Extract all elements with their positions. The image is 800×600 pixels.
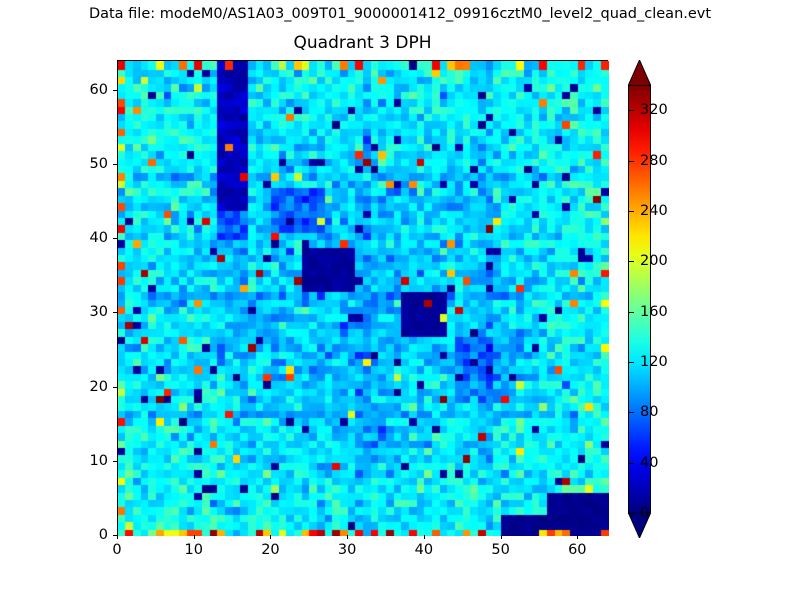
colorbar-tick-label: 80 <box>640 404 658 420</box>
x-tick-mark <box>424 535 425 539</box>
y-tick-label: 30 <box>0 304 108 320</box>
figure-canvas: Data file: modeM0/AS1A03_009T01_90000014… <box>0 0 800 600</box>
colorbar-tick-mark <box>628 110 634 111</box>
colorbar-tick-label: 280 <box>640 153 668 169</box>
colorbar-tick-mark <box>628 362 634 363</box>
x-tick-label: 50 <box>491 542 509 558</box>
x-tick-label: 20 <box>261 542 279 558</box>
x-tick-label: 10 <box>184 542 202 558</box>
y-tick-mark <box>113 90 117 91</box>
colorbar-tick-label: 0 <box>640 505 649 521</box>
y-tick-label: 50 <box>0 156 108 172</box>
colorbar-tick-mark <box>628 161 634 162</box>
y-tick-label: 10 <box>0 453 108 469</box>
y-tick-label: 20 <box>0 379 108 395</box>
x-tick-label: 60 <box>568 542 586 558</box>
colorbar-tick-label: 240 <box>640 203 668 219</box>
y-tick-mark <box>113 238 117 239</box>
x-tick-mark <box>501 535 502 539</box>
x-tick-mark <box>577 535 578 539</box>
colorbar-tick-mark <box>628 211 634 212</box>
colorbar-tick-mark <box>628 261 634 262</box>
colorbar-tick-label: 40 <box>640 455 658 471</box>
y-tick-mark <box>113 535 117 536</box>
y-tick-mark <box>113 164 117 165</box>
x-tick-mark <box>270 535 271 539</box>
colorbar-tick-mark <box>628 312 634 313</box>
x-tick-mark <box>194 535 195 539</box>
x-tick-label: 30 <box>338 542 356 558</box>
colorbar-tick-mark <box>628 513 634 514</box>
y-tick-label: 0 <box>0 527 108 543</box>
colorbar-tick-mark <box>628 412 634 413</box>
x-tick-label: 0 <box>112 542 121 558</box>
y-tick-label: 60 <box>0 82 108 98</box>
y-tick-mark <box>113 461 117 462</box>
heatmap-axes[interactable] <box>117 60 608 535</box>
colorbar-tick-label: 200 <box>640 253 668 269</box>
x-tick-label: 40 <box>415 542 433 558</box>
y-tick-mark <box>113 387 117 388</box>
y-tick-mark <box>113 312 117 313</box>
colorbar-tick-mark <box>628 463 634 464</box>
x-tick-mark <box>117 535 118 539</box>
y-tick-label: 40 <box>0 230 108 246</box>
colorbar-tick-label: 160 <box>640 304 668 320</box>
colorbar-tick-label: 320 <box>640 102 668 118</box>
colorbar-extend-up-arrow <box>628 60 651 86</box>
colorbar-tick-label: 120 <box>640 354 668 370</box>
x-tick-mark <box>347 535 348 539</box>
data-file-suptitle: Data file: modeM0/AS1A03_009T01_90000014… <box>0 6 800 22</box>
heatmap-image[interactable] <box>118 61 609 536</box>
plot-title: Quadrant 3 DPH <box>117 33 608 53</box>
colorbar-gradient <box>628 85 651 513</box>
